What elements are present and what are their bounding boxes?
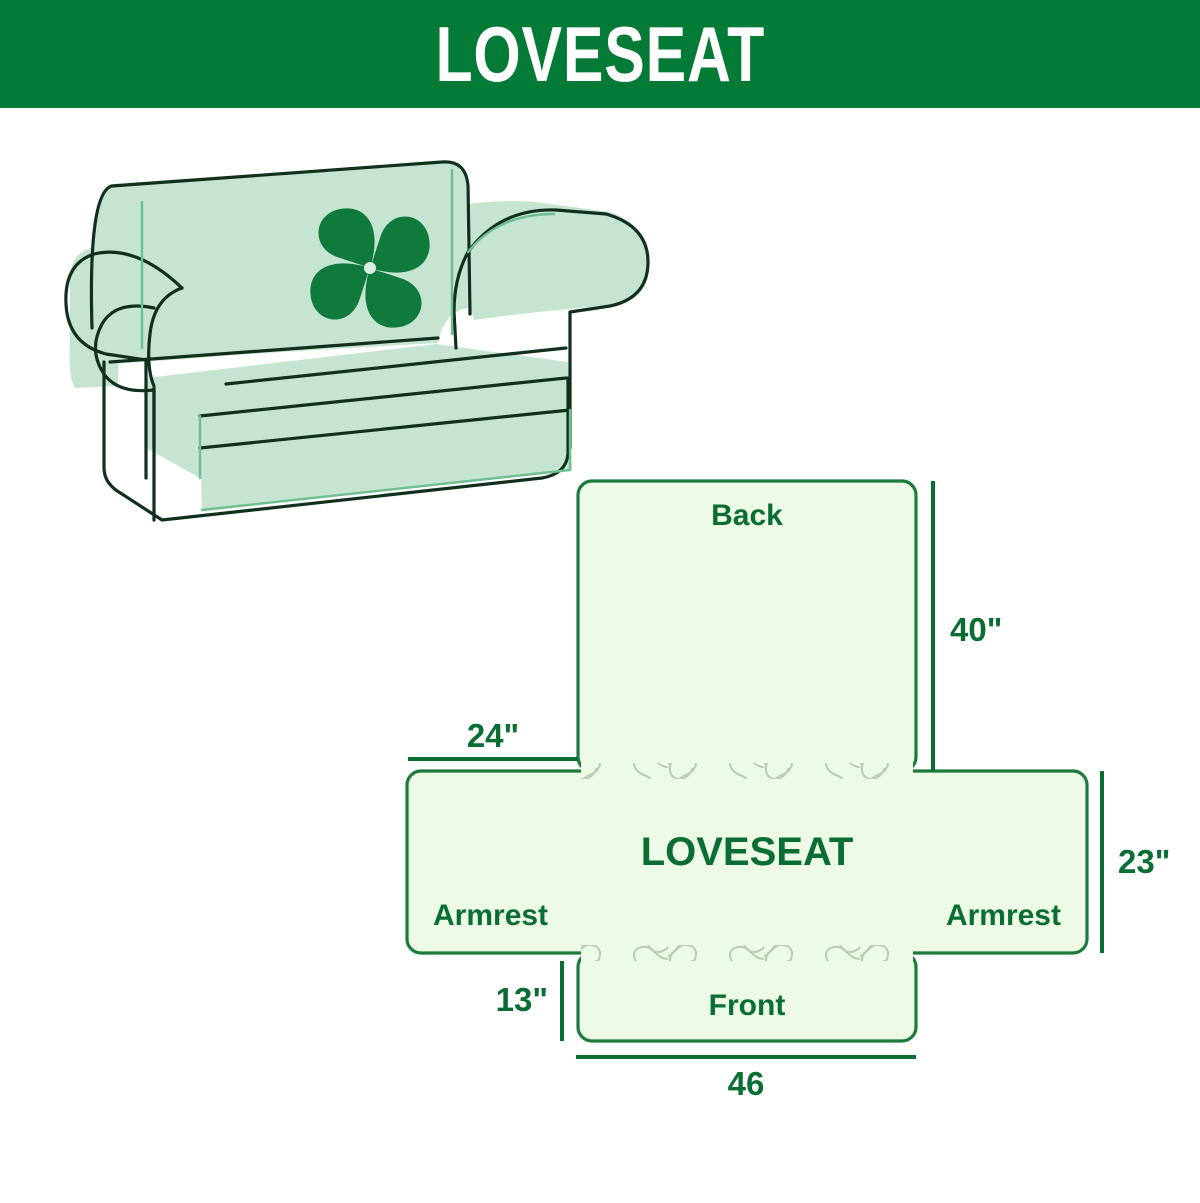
content-stage: Back LOVESEAT Armrest Armrest Front 40" … <box>0 108 1200 1200</box>
pinwheel-logo <box>310 208 429 327</box>
label-center-loveseat: LOVESEAT <box>641 830 854 874</box>
label-back: Back <box>711 499 783 532</box>
seam-cover-bottom <box>581 945 913 961</box>
slipcover-diagram-svg: Back LOVESEAT Armrest Armrest Front 40" … <box>380 463 1200 1203</box>
slipcover-layout-diagram: Back LOVESEAT Armrest Armrest Front 40" … <box>380 463 1200 1203</box>
dim-label-back-height: 40" <box>950 611 1002 648</box>
seam-cover-top <box>581 763 913 779</box>
label-front: Front <box>709 989 786 1022</box>
dim-label-back-width: 24" <box>467 717 519 754</box>
product-size-chart: LOVESEAT <box>0 0 1200 1200</box>
label-armrest-left: Armrest <box>433 899 548 932</box>
page-title: LOVESEAT <box>435 15 765 93</box>
label-armrest-right: Armrest <box>946 899 1061 932</box>
dim-label-front-width: 46 <box>728 1065 765 1102</box>
pinwheel-hub <box>364 262 376 274</box>
dim-label-armrest-height: 23" <box>1118 843 1170 880</box>
dim-label-front-height: 13" <box>496 981 548 1018</box>
header-banner: LOVESEAT <box>0 0 1200 108</box>
